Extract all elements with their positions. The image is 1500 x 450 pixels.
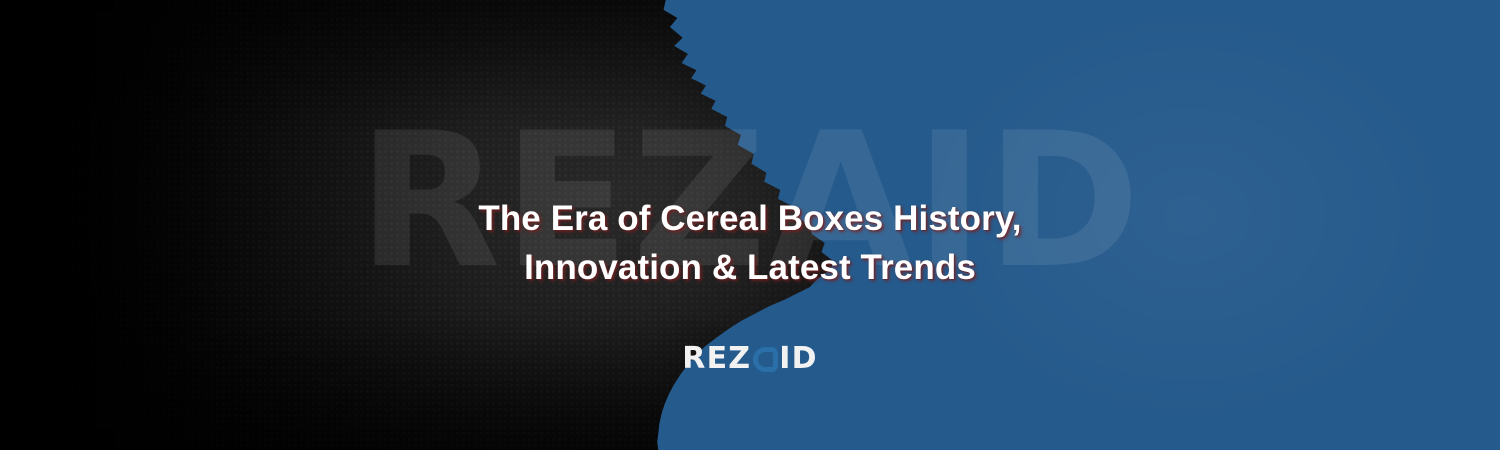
- hero-banner: REZAID The Era of Cereal Boxes History, …: [0, 0, 1500, 450]
- headline-line-2: Innovation & Latest Trends: [210, 244, 1290, 292]
- banner-headline: The Era of Cereal Boxes History, Innovat…: [0, 195, 1500, 292]
- rezaid-a-ring-icon: [753, 347, 778, 372]
- logo-text-prefix: REZ: [682, 344, 751, 374]
- headline-line-1: The Era of Cereal Boxes History,: [478, 199, 1021, 238]
- logo-text-suffix: ID: [779, 344, 817, 374]
- rezaid-logo[interactable]: REZ ID: [0, 344, 1500, 374]
